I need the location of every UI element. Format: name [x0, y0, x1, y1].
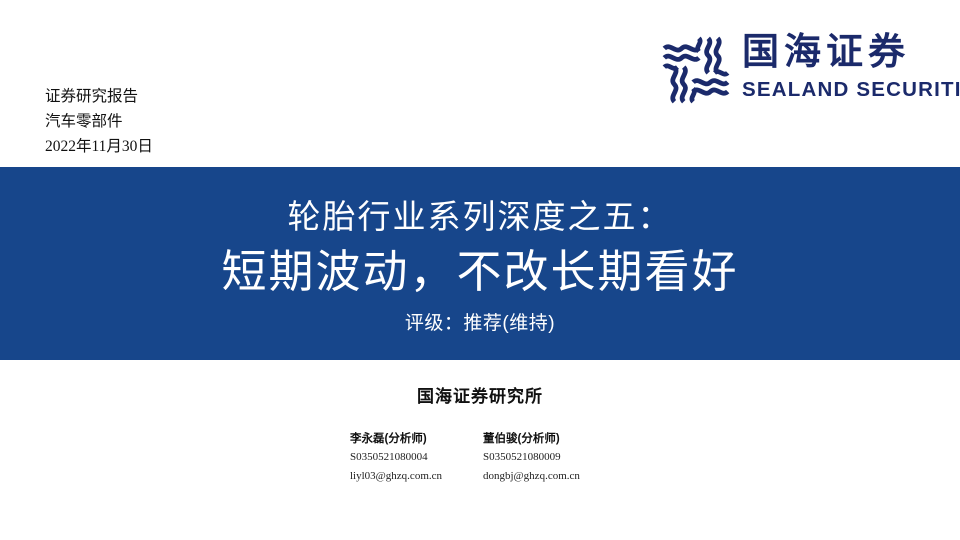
report-title-line-1: 轮胎行业系列深度之五：	[0, 197, 960, 237]
industry-label: 汽车零部件	[45, 109, 153, 134]
research-institute-label: 国海证券研究所	[0, 382, 960, 407]
analyst-email[interactable]: dongbj@ghzq.com.cn	[483, 467, 616, 486]
company-logo: 国海证券 SEALAND SECURITIES	[630, 28, 960, 118]
report-type-label: 证券研究报告	[45, 84, 153, 109]
analyst-entry: 董伯骏(分析师) S0350521080009 dongbj@ghzq.com.…	[483, 430, 616, 486]
analyst-license-number: S0350521080004	[350, 448, 483, 467]
logo-name-cn: 国海证券	[742, 28, 960, 76]
report-date-label: 2022年11月30日	[45, 134, 153, 159]
report-cover-page: 证券研究报告 汽车零部件 2022年11月30日	[0, 0, 960, 540]
analyst-name: 董伯骏(分析师)	[483, 430, 616, 448]
analyst-license-number: S0350521080009	[483, 448, 616, 467]
report-title-line-2: 短期波动，不改长期看好	[0, 245, 960, 299]
analyst-name: 李永磊(分析师)	[350, 430, 483, 448]
analyst-entry: 李永磊(分析师) S0350521080004 liyl03@ghzq.com.…	[350, 430, 483, 486]
analyst-email[interactable]: liyl03@ghzq.com.cn	[350, 467, 483, 486]
logo-wordmark: 国海证券 SEALAND SECURITIES	[742, 28, 960, 103]
title-band: 轮胎行业系列深度之五： 短期波动，不改长期看好 评级：推荐(维持)	[0, 167, 960, 360]
report-meta-block: 证券研究报告 汽车零部件 2022年11月30日	[45, 84, 153, 159]
page-header: 证券研究报告 汽车零部件 2022年11月30日	[0, 0, 960, 167]
analyst-list: 李永磊(分析师) S0350521080004 liyl03@ghzq.com.…	[350, 430, 650, 486]
rating-label: 评级：推荐(维持)	[0, 311, 960, 337]
logo-name-en: SEALAND SECURITIES	[742, 77, 960, 103]
sealand-wave-square-logo-icon	[660, 34, 732, 106]
